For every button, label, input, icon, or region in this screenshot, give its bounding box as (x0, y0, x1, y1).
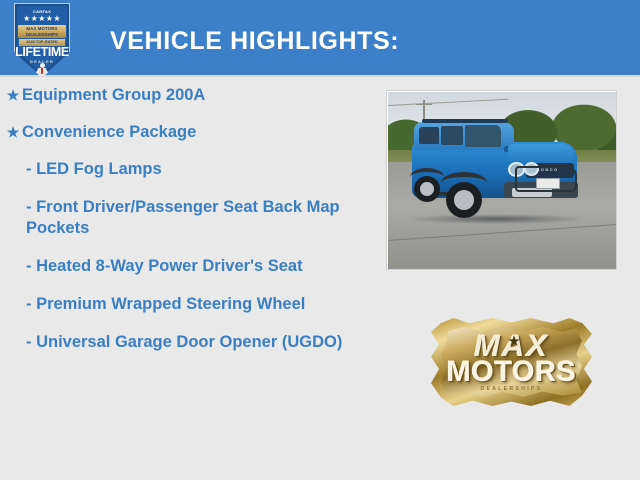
list-item: - Heated 8-Way Power Driver's Seat (0, 256, 376, 277)
suv-roof-rack (422, 119, 508, 123)
list-item: - Front Driver/Passenger Seat Back Map P… (0, 197, 376, 239)
suv-rear-door-window (441, 126, 463, 145)
badge-line-2: DEALERSHIPS (18, 32, 66, 38)
list-item: ★ Equipment Group 200A (0, 85, 376, 106)
page-header: CARFAX ★★★★★ MAX MOTORS DEALERSHIPS 2023… (0, 0, 640, 77)
list-item: ★ Convenience Package (0, 122, 376, 143)
list-item: - Universal Garage Door Opener (UGDO) (0, 332, 376, 353)
list-item-label: - Premium Wrapped Steering Wheel (26, 294, 376, 315)
main-content: ★ Equipment Group 200A ★ Convenience Pac… (0, 79, 640, 480)
page-title: VEHICLE HIGHLIGHTS: (110, 27, 399, 56)
vehicle-highlights-list: ★ Equipment Group 200A ★ Convenience Pac… (0, 85, 376, 370)
suv-brush-guard (515, 166, 577, 192)
badge-figure-tie (41, 68, 43, 74)
suv-front-rim (454, 190, 474, 210)
max-motors-logo[interactable]: MAX ★ MOTORS DEALERSHIPS (431, 318, 592, 406)
badge-lifetime-text: LIFETIME (14, 46, 70, 59)
list-item-label: - Heated 8-Way Power Driver's Seat (26, 256, 376, 277)
vehicle-photo-image: BRONCO (388, 92, 617, 270)
five-star-rating-icon: ★★★★★ (14, 14, 70, 23)
list-item-label: - Front Driver/Passenger Seat Back Map P… (26, 197, 376, 239)
badge-dealership-ribbon: MAX MOTORS DEALERSHIPS (18, 25, 66, 38)
suv-illustration: BRONCO (408, 114, 580, 220)
logo-star-icon: ★ (507, 335, 521, 349)
list-item: - LED Fog Lamps (0, 159, 376, 180)
suv-shadow (410, 214, 582, 224)
list-item-label: Convenience Package (22, 122, 376, 143)
badge-salesperson-icon (35, 63, 49, 77)
suv-rear-rim (420, 182, 434, 196)
list-item-label: Equipment Group 200A (22, 85, 376, 106)
star-bullet-icon: ★ (0, 85, 22, 106)
suv-windshield (465, 125, 501, 147)
list-item-label: - LED Fog Lamps (26, 159, 376, 180)
logo-text-motors: MOTORS (431, 358, 592, 387)
vehicle-photo[interactable]: BRONCO (386, 90, 617, 270)
photo-utility-pole-arm (416, 104, 432, 105)
carfax-lifetime-dealer-badge: CARFAX ★★★★★ MAX MOTORS DEALERSHIPS 2023… (14, 3, 70, 77)
list-item-label: - Universal Garage Door Opener (UGDO) (26, 332, 376, 353)
suv-rear-window (419, 127, 439, 144)
star-bullet-icon: ★ (0, 122, 22, 143)
logo-subtitle: DEALERSHIPS (431, 386, 592, 392)
list-item: - Premium Wrapped Steering Wheel (0, 294, 376, 315)
